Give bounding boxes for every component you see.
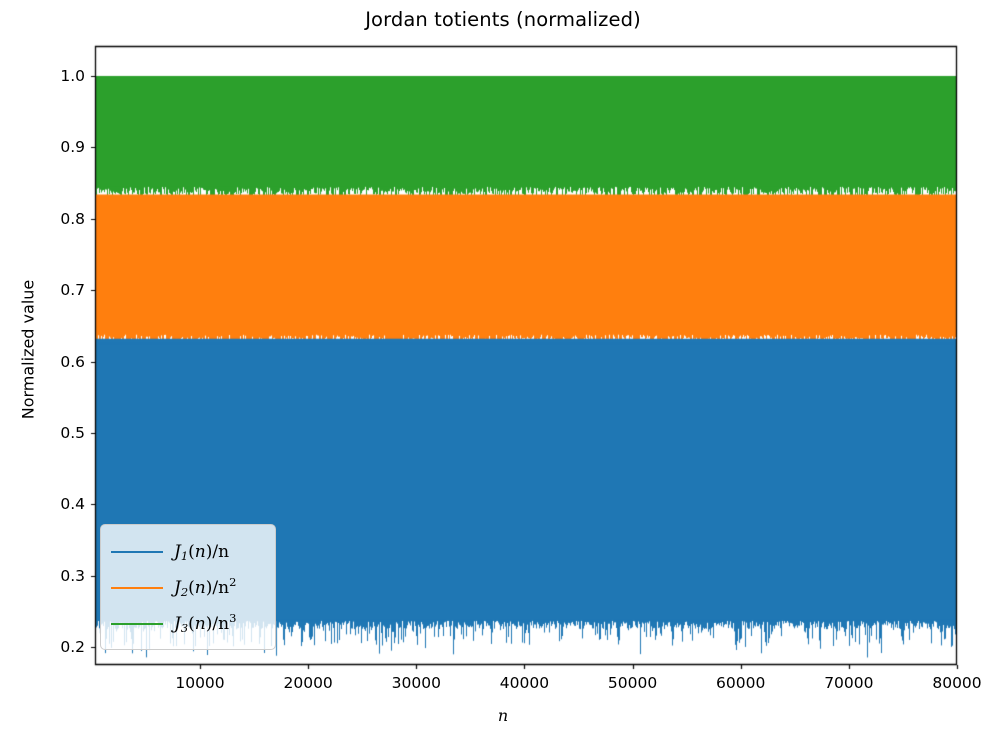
x-tick-label: 80000 <box>932 674 981 692</box>
x-axis-label: n <box>0 706 1006 725</box>
chart-legend[interactable]: J1(n)/nJ2(n)/n2J3(n)/n3 <box>100 524 276 650</box>
legend-item-j3[interactable]: J3(n)/n3 <box>111 606 265 642</box>
legend-color-swatch <box>111 551 163 553</box>
matplotlib-figure: Jordan totients (normalized) n Normalize… <box>0 0 1006 744</box>
legend-label: J2(n)/n2 <box>174 578 236 598</box>
x-tick-label: 50000 <box>608 674 657 692</box>
y-tick-label: 0.9 <box>37 138 85 156</box>
x-tick-label: 70000 <box>824 674 873 692</box>
x-tick-label: 10000 <box>175 674 224 692</box>
y-tick-label: 0.4 <box>37 495 85 513</box>
legend-color-swatch <box>111 623 163 625</box>
x-tick-label: 40000 <box>500 674 549 692</box>
y-tick-label: 0.8 <box>37 210 85 228</box>
x-tick-label: 30000 <box>392 674 441 692</box>
x-tick-label: 60000 <box>716 674 765 692</box>
y-tick-label: 0.3 <box>37 567 85 585</box>
legend-item-j2[interactable]: J2(n)/n2 <box>111 570 265 606</box>
y-tick-label: 0.5 <box>37 424 85 442</box>
chart-title: Jordan totients (normalized) <box>0 8 1006 31</box>
y-tick-label: 0.7 <box>37 281 85 299</box>
x-tick-label: 20000 <box>283 674 332 692</box>
legend-item-j1[interactable]: J1(n)/n <box>111 534 265 570</box>
y-tick-label: 1.0 <box>37 67 85 85</box>
legend-label: J1(n)/n <box>174 542 229 562</box>
y-tick-label: 0.6 <box>37 353 85 371</box>
y-tick-label: 0.2 <box>37 638 85 656</box>
y-axis-label: Normalized value <box>19 250 38 450</box>
legend-label: J3(n)/n3 <box>174 614 236 634</box>
legend-color-swatch <box>111 587 163 589</box>
